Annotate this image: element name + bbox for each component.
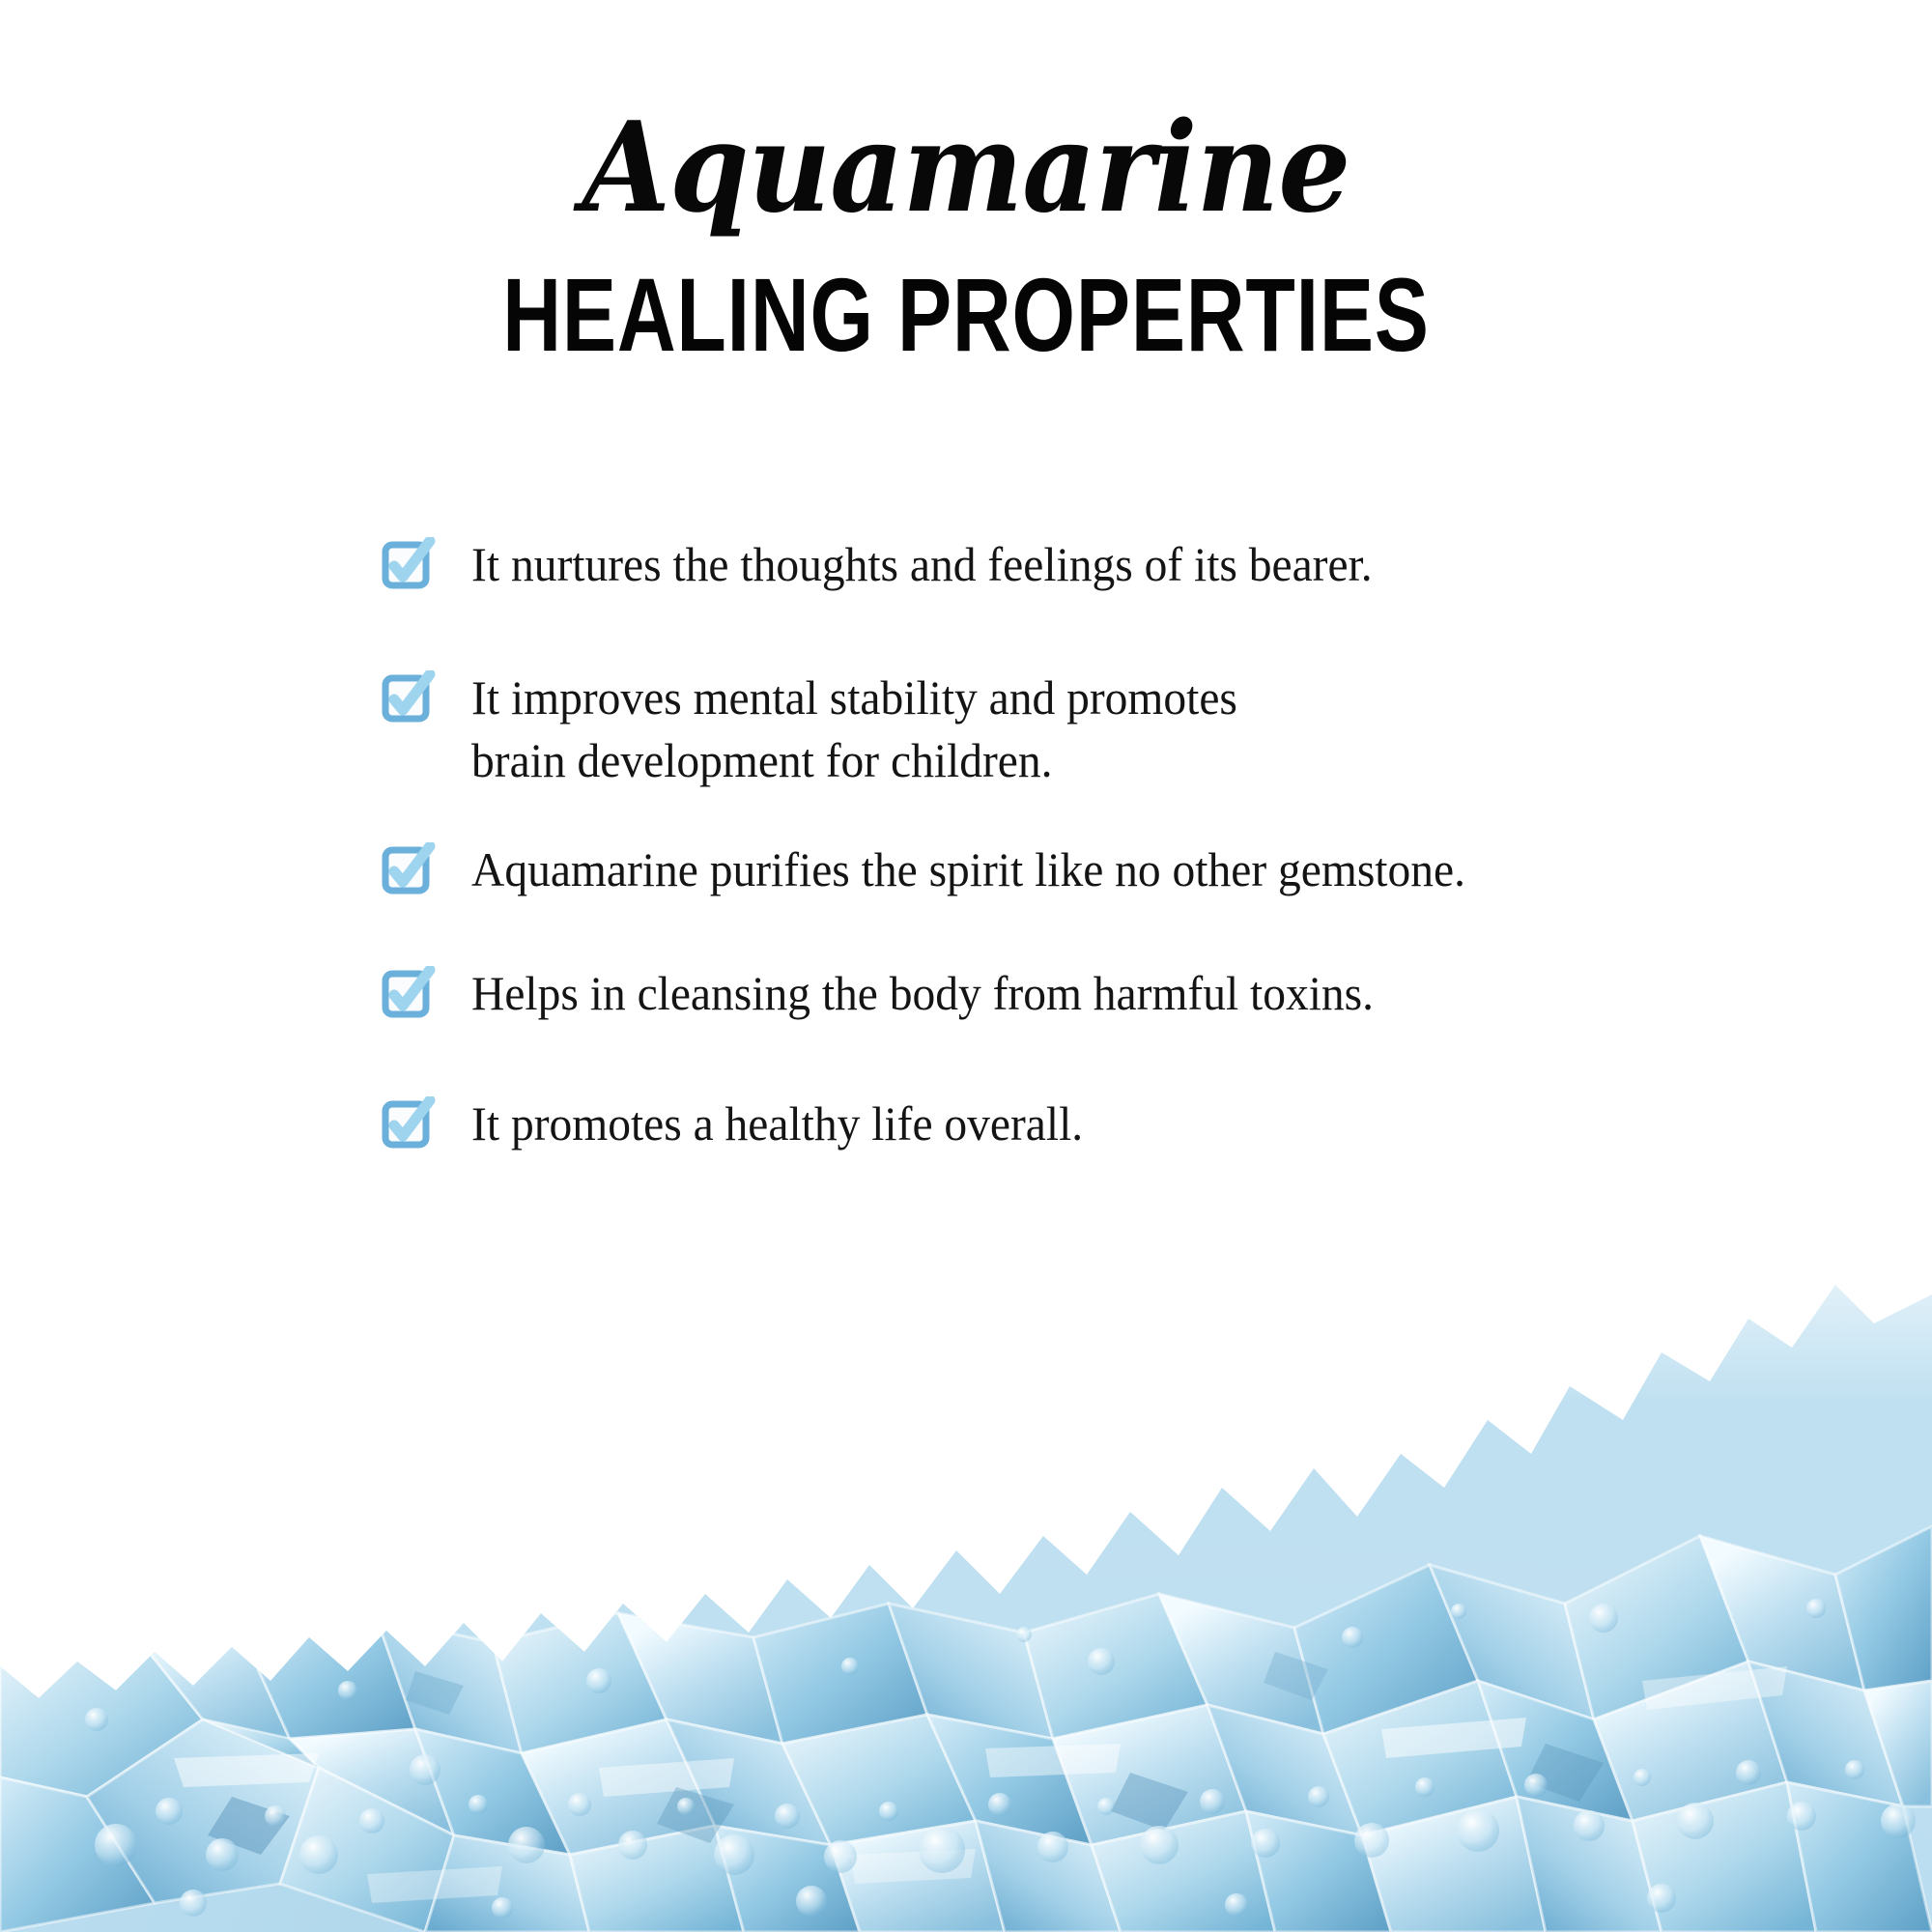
list-item-label: It improves mental stability and promote… — [436, 667, 1743, 792]
page-subtitle: HEALING PROPERTIES — [213, 230, 1719, 367]
list-item-label: It promotes a healthy life overall. — [436, 1093, 1743, 1155]
list-item-label: Aquamarine purifies the spirit like no o… — [436, 838, 1743, 901]
checkbox-checked-icon — [382, 842, 436, 898]
page-header: Aquamarine HEALING PROPERTIES — [0, 0, 1932, 367]
list-item: It improves mental stability and promote… — [382, 667, 1811, 792]
healing-properties-list: It nurtures the thoughts and feelings of… — [382, 533, 1811, 1155]
checkbox-checked-icon — [382, 966, 436, 1022]
page-title: Aquamarine — [77, 0, 1855, 230]
checkbox-checked-icon — [382, 1096, 436, 1152]
ice-cubes-photo — [0, 1179, 1932, 1932]
list-item: It nurtures the thoughts and feelings of… — [382, 533, 1811, 596]
checkbox-checked-icon — [382, 537, 436, 593]
checkbox-checked-icon — [382, 670, 436, 726]
list-item: It promotes a healthy life overall. — [382, 1093, 1811, 1155]
list-item: Aquamarine purifies the spirit like no o… — [382, 838, 1811, 901]
list-item-label: Helps in cleansing the body from harmful… — [436, 962, 1743, 1025]
list-item: Helps in cleansing the body from harmful… — [382, 962, 1811, 1025]
list-item-label: It nurtures the thoughts and feelings of… — [436, 533, 1743, 596]
